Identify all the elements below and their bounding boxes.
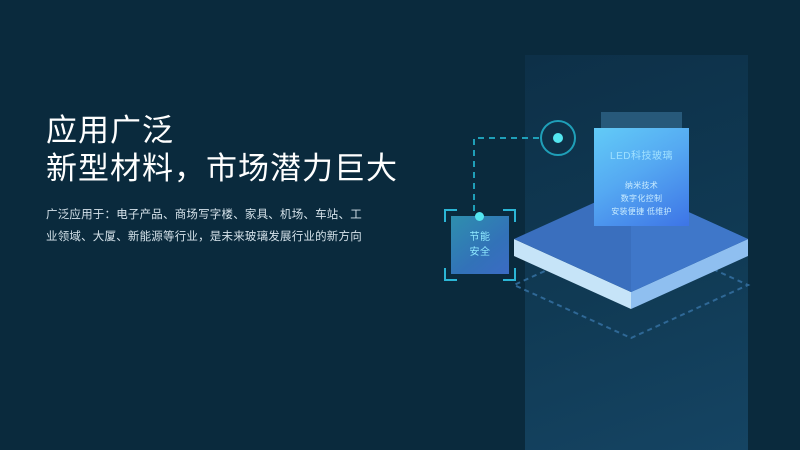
glass-panel-feature: 安装便捷 低维护 — [594, 205, 689, 218]
badge-label-line-1: 节能 — [470, 230, 491, 245]
text-block: 应用广泛 新型材料，市场潜力巨大 广泛应用于：电子产品、商场写字楼、家具、机场、… — [46, 112, 446, 248]
glass-panel[interactable]: LED科技玻璃 纳米技术 数字化控制 安装便捷 低维护 — [594, 128, 689, 226]
feature-badge[interactable]: 节能 安全 — [440, 205, 520, 285]
glass-panel-feature: 数字化控制 — [594, 192, 689, 205]
heading-line-2: 新型材料，市场潜力巨大 — [46, 150, 446, 188]
badge-box: 节能 安全 — [451, 216, 509, 274]
badge-label-line-2: 安全 — [470, 245, 491, 260]
slide-root: LED科技玻璃 纳米技术 数字化控制 安装便捷 低维护 节能 安全 应用广泛 新… — [0, 0, 800, 450]
body-paragraph: 广泛应用于：电子产品、商场写字楼、家具、机场、车站、工业领域、大厦、新能源等行业… — [46, 204, 364, 248]
glass-panel-title: LED科技玻璃 — [594, 150, 689, 164]
badge-dot-icon — [475, 212, 484, 221]
heading-line-1: 应用广泛 — [46, 112, 446, 150]
glass-panel-feature: 纳米技术 — [594, 179, 689, 192]
glass-panel-feature-list: 纳米技术 数字化控制 安装便捷 低维护 — [594, 179, 689, 218]
